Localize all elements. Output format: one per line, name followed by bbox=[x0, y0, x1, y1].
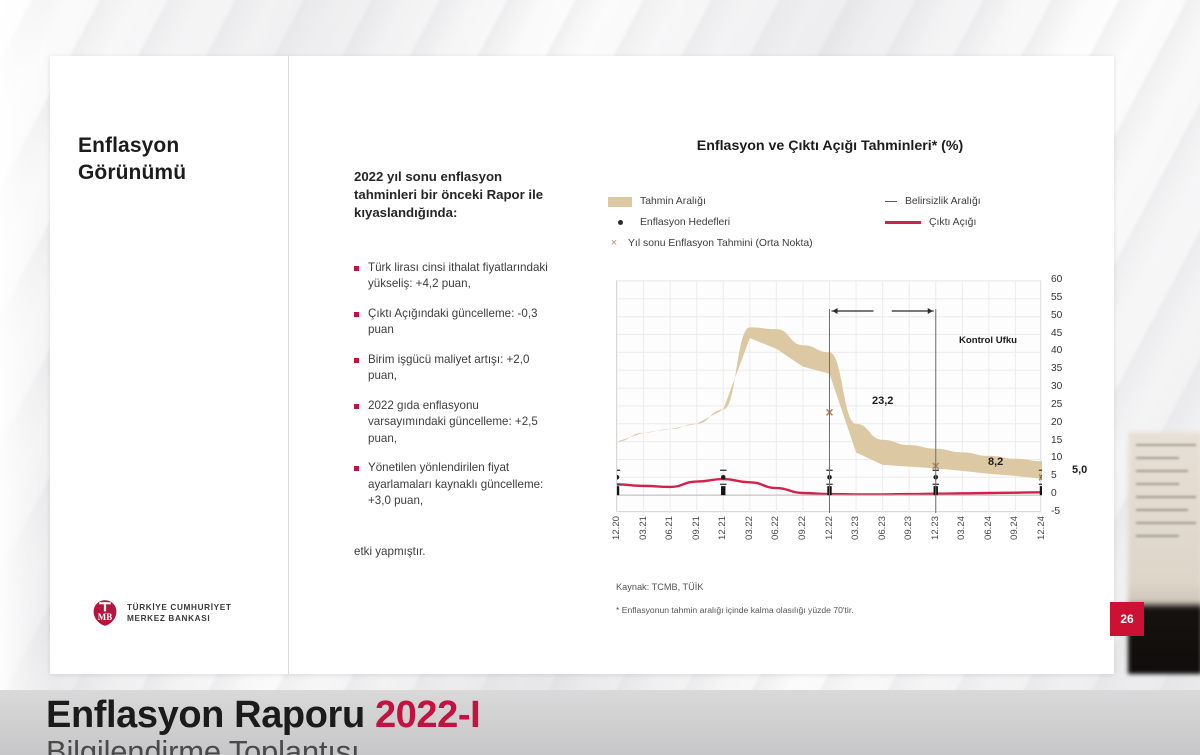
page-title: EnflasyonGörünümü bbox=[78, 132, 268, 187]
x-axis-tick-label: 12.23 bbox=[930, 516, 941, 540]
banner-subtitle: Bilgilendirme Toplantısı bbox=[46, 734, 359, 755]
x-axis-tick-label: 06.22 bbox=[770, 516, 781, 540]
chart-legend: Tahmin Aralığı Enflasyon Hedefleri × Yıl… bbox=[608, 196, 1108, 262]
chart-canvas bbox=[617, 281, 1042, 513]
y-axis-tick-label: 0 bbox=[1051, 489, 1077, 499]
bullet-square-icon bbox=[354, 312, 359, 317]
legend-item-inflation-targets: Enflasyon Hedefleri bbox=[608, 217, 730, 228]
list-item-label: Türk lirası cinsi ithalat fiyatlarındaki… bbox=[368, 260, 550, 293]
slide-left-column: EnflasyonGörünümü MB TÜRKİYE CUMHURİYET … bbox=[50, 56, 288, 674]
y-axis-tick-label: 50 bbox=[1051, 311, 1077, 321]
x-axis-tick-label: 12.20 bbox=[611, 516, 622, 540]
x-axis-tick-label: 06.24 bbox=[983, 516, 994, 540]
annotation-value-2022: 23,2 bbox=[872, 395, 893, 407]
list-item: 2022 gıda enflasyonu varsayımındaki günc… bbox=[354, 398, 550, 447]
x-axis-tick-label: 03.24 bbox=[956, 516, 967, 540]
x-axis-tick-label: 12.21 bbox=[717, 516, 728, 540]
bullet-square-icon bbox=[354, 266, 359, 271]
source-note: Kaynak: TCMB, TÜİK bbox=[616, 582, 703, 592]
legend-label: Yıl sonu Enflasyon Tahmini (Orta Nokta) bbox=[628, 238, 813, 249]
y-axis-tick-label: 5 bbox=[1051, 471, 1077, 481]
x-axis-tick-label: 03.22 bbox=[744, 516, 755, 540]
list-item-label: Çıktı Açığındaki güncelleme: -0,3 puan bbox=[368, 306, 550, 339]
lead-paragraph: 2022 yıl sonu enflasyon tahminleri bir ö… bbox=[354, 168, 546, 223]
footnote: * Enflasyonun tahmin aralığı içinde kalm… bbox=[616, 605, 854, 615]
legend-label: Enflasyon Hedefleri bbox=[640, 217, 730, 228]
bullet-list: Türk lirası cinsi ithalat fiyatlarındaki… bbox=[354, 260, 550, 522]
legend-item-uncertainty-band: Belirsizlik Aralığı bbox=[885, 196, 981, 207]
list-item: Çıktı Açığındaki güncelleme: -0,3 puan bbox=[354, 306, 550, 339]
broadcast-lower-third: Enflasyon Raporu 2022-I Bilgilendirme To… bbox=[0, 690, 1200, 755]
x-axis-tick-label: 09.21 bbox=[691, 516, 702, 540]
chart-plot-area: 23,2 8,2 5,0 Kontrol Ufku bbox=[616, 280, 1041, 512]
logo-line-1: TÜRKİYE CUMHURİYET bbox=[127, 603, 232, 612]
banner-title: Enflasyon Raporu 2022-I bbox=[46, 694, 480, 737]
bullet-square-icon bbox=[354, 358, 359, 363]
x-axis-tick-label: 06.21 bbox=[664, 516, 675, 540]
banner-title-main: Enflasyon Raporu bbox=[46, 694, 365, 736]
slide-chart-column: Enflasyon ve Çıktı Açığı Tahminleri* (%)… bbox=[546, 56, 1114, 674]
list-item-label: Birim işgücü maliyet artışı: +2,0 puan, bbox=[368, 352, 550, 385]
y-axis-tick-label: 55 bbox=[1051, 293, 1077, 303]
list-item: Birim işgücü maliyet artışı: +2,0 puan, bbox=[354, 352, 550, 385]
x-axis-tick-label: 09.22 bbox=[797, 516, 808, 540]
annotation-value-2023: 8,2 bbox=[988, 456, 1003, 468]
logo-line-2: MERKEZ BANKASI bbox=[127, 614, 210, 623]
closing-text: etki yapmıştır. bbox=[354, 545, 544, 558]
legend-item-forecast-band: Tahmin Aralığı bbox=[608, 196, 706, 207]
y-axis-tick-label: 45 bbox=[1051, 329, 1077, 339]
background-document-text-lines bbox=[1136, 444, 1196, 584]
x-axis-tick-label: 03.21 bbox=[638, 516, 649, 540]
x-axis-tick-label: 09.24 bbox=[1009, 516, 1020, 540]
slide-middle-column: 2022 yıl sonu enflasyon tahminleri bir ö… bbox=[289, 56, 545, 674]
legend-item-output-gap: Çıktı Açığı bbox=[885, 217, 976, 228]
backdrop-left-highlight bbox=[0, 0, 52, 690]
y-axis-tick-label: 40 bbox=[1051, 346, 1077, 356]
dot-marker-icon bbox=[608, 220, 632, 225]
presentation-slide: EnflasyonGörünümü MB TÜRKİYE CUMHURİYET … bbox=[50, 56, 1114, 674]
chart-y-axis: 605550454035302520151050-5 bbox=[1051, 269, 1081, 525]
x-axis-tick-label: 12.24 bbox=[1036, 516, 1047, 540]
control-horizon-label: Kontrol Ufku bbox=[955, 335, 1021, 347]
tcmb-logo: MB TÜRKİYE CUMHURİYET MERKEZ BANKASI bbox=[90, 598, 232, 628]
page-number-badge: 26 bbox=[1110, 602, 1144, 636]
legend-item-midpoint-forecast: × Yıl sonu Enflasyon Tahmini (Orta Nokta… bbox=[608, 238, 813, 249]
tcmb-logo-icon: MB bbox=[90, 598, 120, 628]
legend-label: Belirsizlik Aralığı bbox=[905, 196, 981, 207]
y-axis-tick-label: 20 bbox=[1051, 418, 1077, 428]
page-title-line: Görünümü bbox=[78, 161, 186, 184]
bullet-square-icon bbox=[354, 466, 359, 471]
x-axis-tick-label: 06.23 bbox=[877, 516, 888, 540]
legend-label: Çıktı Açığı bbox=[929, 217, 976, 228]
line-marker-icon bbox=[885, 221, 921, 224]
list-item: Türk lirası cinsi ithalat fiyatlarındaki… bbox=[354, 260, 550, 293]
page-title-line: Enflasyon bbox=[78, 134, 179, 157]
dash-marker-icon bbox=[885, 201, 897, 202]
y-axis-tick-label: 25 bbox=[1051, 400, 1077, 410]
y-axis-tick-label: 60 bbox=[1051, 275, 1077, 285]
list-item-label: 2022 gıda enflasyonu varsayımındaki günc… bbox=[368, 398, 550, 447]
band-swatch-icon bbox=[608, 197, 632, 207]
x-marker-icon: × bbox=[608, 238, 620, 249]
y-axis-tick-label: -5 bbox=[1051, 507, 1077, 517]
svg-text:MB: MB bbox=[98, 612, 113, 622]
banner-title-year: 2022-I bbox=[375, 694, 480, 736]
chart-title: Enflasyon ve Çıktı Açığı Tahminleri* (%) bbox=[546, 138, 1114, 154]
x-axis-tick-label: 12.22 bbox=[824, 516, 835, 540]
y-axis-tick-label: 30 bbox=[1051, 382, 1077, 392]
y-axis-tick-label: 10 bbox=[1051, 453, 1077, 463]
x-axis-tick-label: 03.23 bbox=[850, 516, 861, 540]
y-axis-tick-label: 35 bbox=[1051, 364, 1077, 374]
bullet-square-icon bbox=[354, 404, 359, 409]
legend-label: Tahmin Aralığı bbox=[640, 196, 706, 207]
y-axis-tick-label: 15 bbox=[1051, 436, 1077, 446]
chart-x-axis: 12.2003.2106.2109.2112.2103.2206.2209.22… bbox=[616, 516, 1042, 578]
tcmb-logo-text: TÜRKİYE CUMHURİYET MERKEZ BANKASI bbox=[127, 602, 232, 625]
list-item-label: Yönetilen yönlendirilen fiyat ayarlamala… bbox=[368, 460, 550, 509]
list-item: Yönetilen yönlendirilen fiyat ayarlamala… bbox=[354, 460, 550, 509]
x-axis-tick-label: 09.23 bbox=[903, 516, 914, 540]
